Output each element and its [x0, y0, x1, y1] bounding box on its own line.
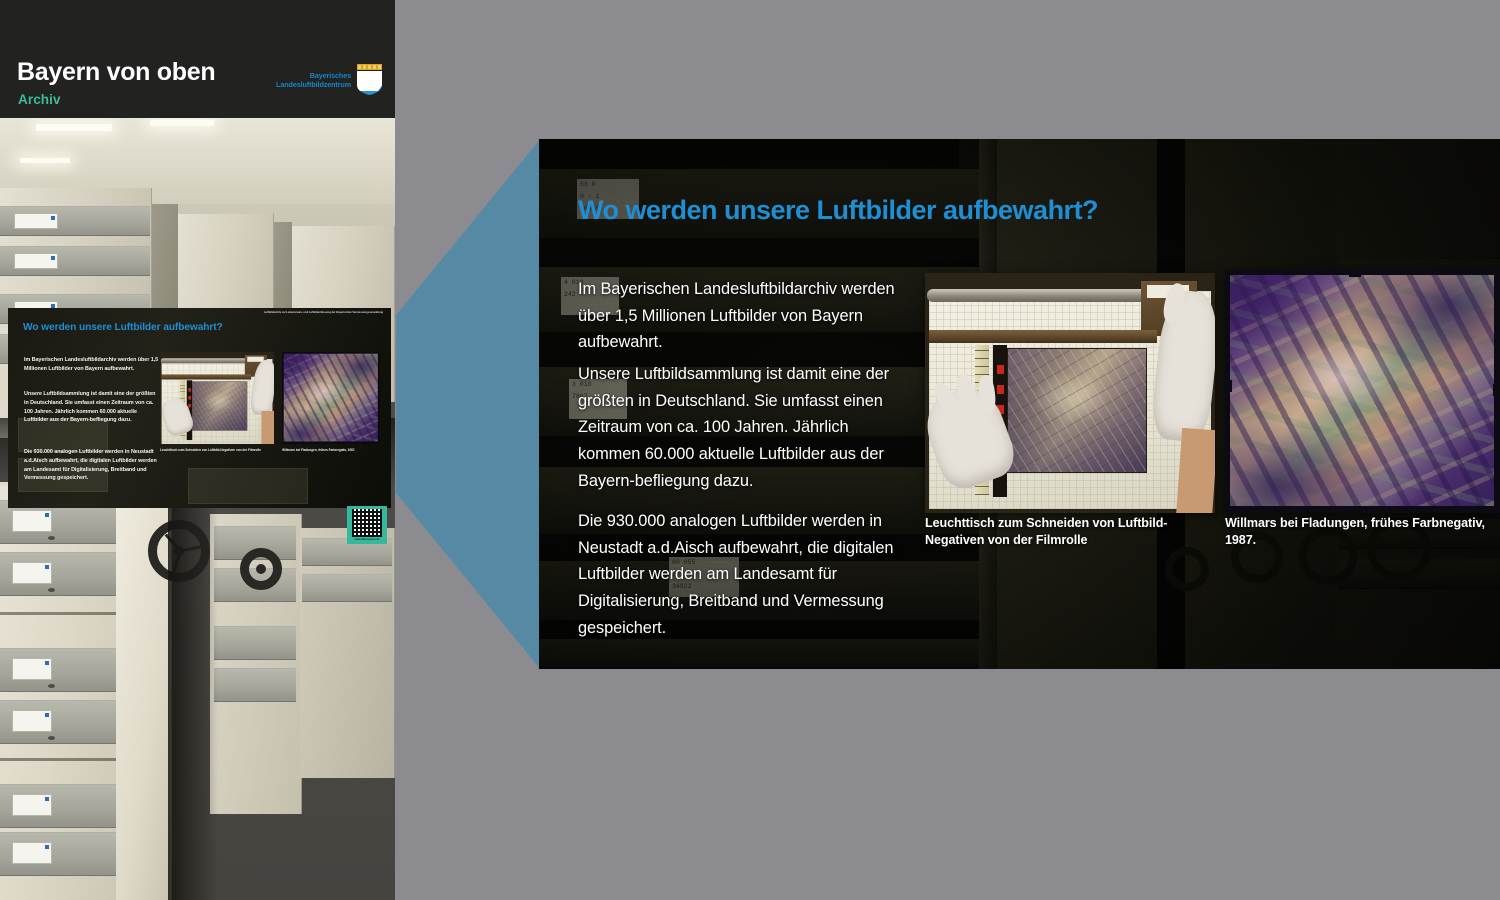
archive-room-photo	[0, 118, 395, 900]
drawer-knob	[48, 736, 55, 740]
wooden-bar	[162, 374, 252, 379]
mini-paragraph-2: Unsere Luftbildsammlung ist damit eine d…	[24, 390, 159, 425]
false-color-aerial-image	[1230, 275, 1494, 506]
film-notch	[1343, 506, 1355, 513]
rolling-shelf-handwheel[interactable]	[240, 548, 282, 590]
page-title: Bayern von oben	[17, 58, 215, 87]
panel-paragraph-2: Unsere Luftbildsammlung ist damit eine d…	[578, 361, 908, 495]
drawer-knob	[48, 536, 55, 540]
indicator-led	[188, 404, 191, 408]
qr-label: www.ldbv.bayern.de	[350, 538, 384, 541]
box-label	[12, 710, 52, 732]
roller-bar	[161, 358, 255, 363]
film-notch	[1349, 270, 1361, 277]
poster-header: Bayern von oben Archiv Bayerisches Lande…	[0, 0, 395, 118]
shelf-divider	[0, 612, 116, 615]
forearm	[1176, 428, 1215, 513]
mini-caption-1: Leuchttisch zum Schneiden von Luftbild-N…	[160, 448, 280, 453]
mini-panel-heading: Wo werden unsere Luftbilder aufbewahrt?	[23, 322, 223, 333]
false-color-aerial-image	[284, 354, 378, 442]
panel-heading: Wo werden unsere Luftbilder aufbewahrt?	[578, 195, 1098, 226]
mini-paragraph-1: Im Bayerischen Landesluftbildarchiv werd…	[24, 356, 159, 374]
photo-art	[282, 352, 380, 444]
box-label	[14, 253, 58, 269]
indicator-led	[997, 365, 1004, 374]
ceiling-light	[36, 124, 112, 131]
mini-aerial-photo	[282, 352, 380, 444]
aerial-negative	[192, 381, 247, 430]
photo-art	[160, 352, 274, 444]
poster-top-note: Luftbildarchiv zur Lebensraum- und Luftb…	[263, 311, 383, 315]
wooden-bar	[929, 330, 1157, 343]
box-label	[14, 213, 58, 229]
screenshot-canvas: Luftbildarchiv zur Lebensraum- und Luftb…	[0, 0, 1500, 900]
mini-paragraph-3: Die 930.000 analogen Luftbilder werden i…	[24, 448, 159, 483]
logo-line-1: Bayerisches	[276, 71, 351, 80]
archive-box	[302, 574, 392, 602]
panel-paragraph-1: Im Bayerischen Landesluftbildarchiv werd…	[578, 276, 908, 356]
drawer-knob	[48, 588, 55, 592]
roller-bar	[927, 289, 1167, 302]
indicator-led	[188, 396, 191, 400]
detail-panel: 53 00 - 110555 4 018242 - 3 0187867 - 60…	[539, 139, 1500, 669]
photo-art	[925, 273, 1215, 513]
lightbox-film-cutting-photo	[925, 273, 1215, 513]
poster-preview-column: Luftbildarchiv zur Lebensraum- und Luftb…	[0, 0, 395, 900]
shield-svg	[356, 64, 383, 95]
box-label	[12, 794, 52, 816]
photo-caption-1: Leuchttisch zum Schneiden von Luftbild-N…	[925, 515, 1215, 550]
box-label	[12, 842, 52, 864]
aerial-negative	[1007, 348, 1147, 473]
indicator-led	[188, 388, 191, 392]
film-notch	[1493, 384, 1500, 396]
mini-lightbox-photo	[160, 352, 274, 444]
logo-line-2: Landesluftbildzentrum	[276, 80, 351, 89]
photo-caption-2: Willmars bei Fladungen, frühes Farbnegat…	[1225, 515, 1500, 550]
aisle-shadow	[168, 476, 218, 900]
bavarian-coat-of-arms-icon	[356, 64, 383, 95]
shelf-divider	[0, 758, 116, 761]
panel-paragraph-3: Die 930.000 analogen Luftbilder werden i…	[578, 508, 908, 642]
poster-content-panel: Luftbildarchiv zur Lebensraum- und Luftb…	[8, 308, 391, 508]
ceiling-light	[20, 158, 70, 163]
box-label	[12, 562, 52, 584]
qr-code-icon	[352, 509, 382, 537]
photo-art	[1225, 270, 1500, 513]
background-box	[188, 468, 308, 504]
organization-logo: Bayerisches Landesluftbildzentrum	[276, 64, 383, 95]
page-subtitle: Archiv	[18, 92, 61, 107]
callout-connector-wedge	[396, 138, 541, 670]
box-label	[12, 510, 52, 532]
willmars-color-negative-photo	[1225, 270, 1500, 513]
forearm	[261, 411, 274, 444]
mini-caption-2: Willmars bei Fladungen, frühes Farbnegat…	[282, 448, 382, 453]
archive-box	[214, 626, 296, 660]
logo-text: Bayerisches Landesluftbildzentrum	[276, 71, 351, 89]
drawer-knob	[48, 684, 55, 688]
indicator-led	[997, 385, 1004, 394]
archive-box	[214, 668, 296, 702]
film-notch	[1225, 380, 1232, 392]
ceiling-light	[150, 120, 214, 126]
qr-code-badge[interactable]: www.ldbv.bayern.de	[347, 506, 387, 544]
box-label	[12, 658, 52, 680]
